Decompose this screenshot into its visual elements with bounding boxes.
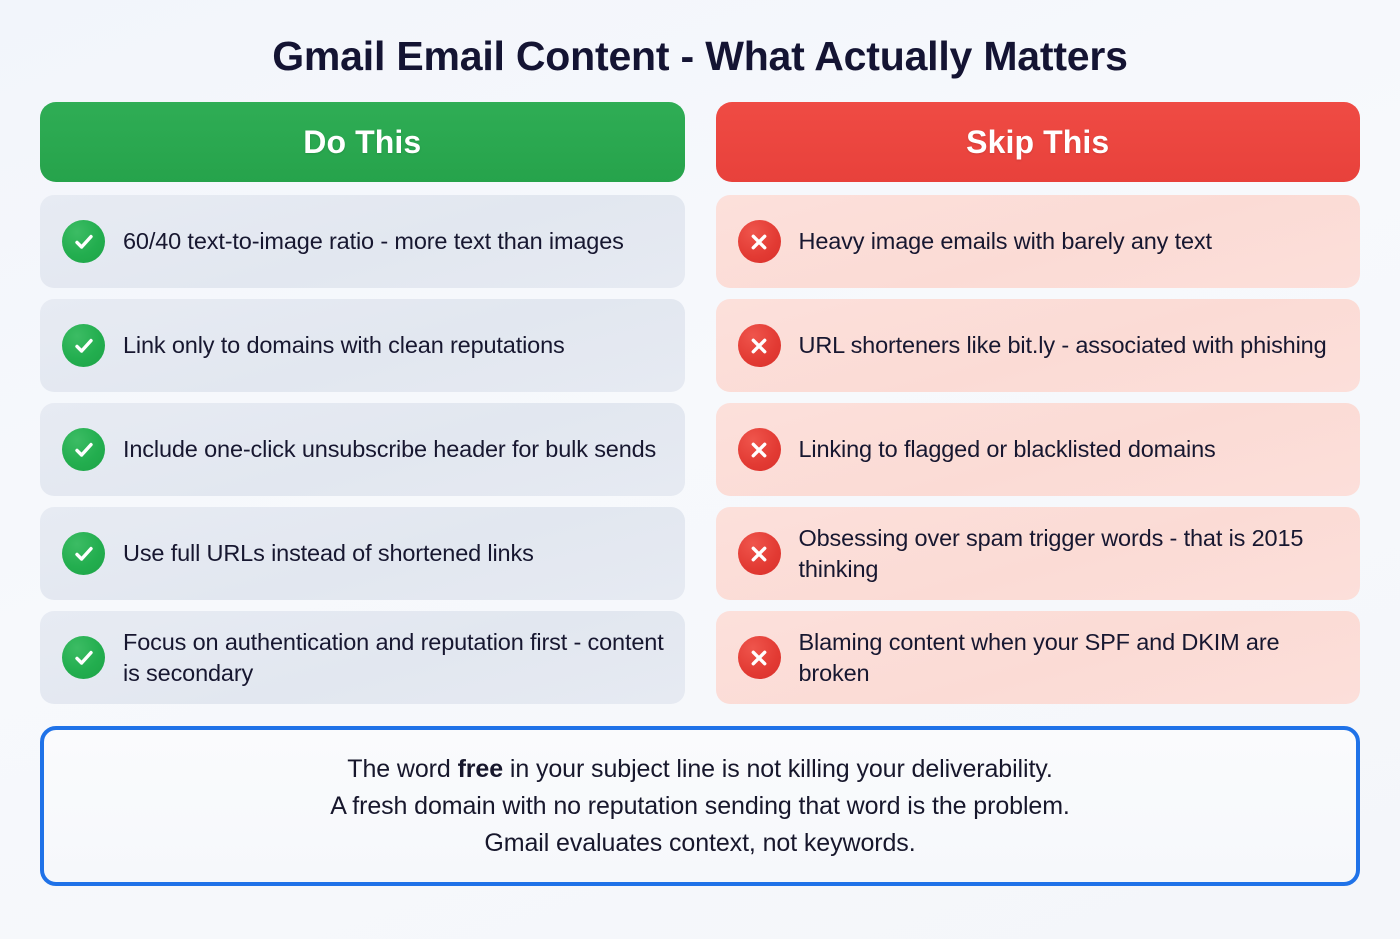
check-circle-icon: [62, 220, 105, 263]
x-circle-icon: [738, 532, 781, 575]
comparison-columns: Do This 60/40 text-to-image ratio - more…: [40, 102, 1360, 704]
list-item-label: Blaming content when your SPF and DKIM a…: [799, 627, 1341, 690]
check-circle-icon: [62, 428, 105, 471]
skip-this-list: Heavy image emails with barely any text …: [716, 195, 1361, 704]
list-item-label: Use full URLs instead of shortened links: [123, 538, 534, 569]
do-this-list: 60/40 text-to-image ratio - more text th…: [40, 195, 685, 704]
list-item[interactable]: Heavy image emails with barely any text: [716, 195, 1361, 288]
list-item[interactable]: Focus on authentication and reputation f…: [40, 611, 685, 704]
list-item-label: Focus on authentication and reputation f…: [123, 627, 665, 690]
list-item[interactable]: Linking to flagged or blacklisted domain…: [716, 403, 1361, 496]
x-circle-icon: [738, 324, 781, 367]
list-item-label: 60/40 text-to-image ratio - more text th…: [123, 226, 624, 257]
key-takeaway-callout: The word free in your subject line is no…: [40, 726, 1360, 886]
do-this-column: Do This 60/40 text-to-image ratio - more…: [40, 102, 685, 704]
callout-line3: Gmail evaluates context, not keywords.: [484, 829, 915, 857]
list-item[interactable]: Blaming content when your SPF and DKIM a…: [716, 611, 1361, 704]
list-item-label: Linking to flagged or blacklisted domain…: [799, 434, 1216, 465]
callout-emphasis-word: free: [458, 755, 503, 783]
x-circle-icon: [738, 220, 781, 263]
page-title: Gmail Email Content - What Actually Matt…: [40, 0, 1360, 90]
list-item-label: Obsessing over spam trigger words - that…: [799, 523, 1341, 586]
list-item-label: Link only to domains with clean reputati…: [123, 330, 565, 361]
check-circle-icon: [62, 636, 105, 679]
list-item-label: URL shorteners like bit.ly - associated …: [799, 330, 1327, 361]
check-circle-icon: [62, 532, 105, 575]
list-item[interactable]: Obsessing over spam trigger words - that…: [716, 507, 1361, 600]
list-item[interactable]: Use full URLs instead of shortened links: [40, 507, 685, 600]
list-item[interactable]: Include one-click unsubscribe header for…: [40, 403, 685, 496]
callout-line2: A fresh domain with no reputation sendin…: [330, 792, 1070, 820]
check-circle-icon: [62, 324, 105, 367]
skip-this-header: Skip This: [716, 102, 1361, 182]
callout-line1-before: The word: [347, 755, 457, 783]
list-item-label: Include one-click unsubscribe header for…: [123, 434, 656, 465]
callout-text: The word free in your subject line is no…: [306, 751, 1094, 861]
do-this-header: Do This: [40, 102, 685, 182]
x-circle-icon: [738, 428, 781, 471]
skip-this-column: Skip This Heavy image emails with barely…: [716, 102, 1361, 704]
list-item[interactable]: 60/40 text-to-image ratio - more text th…: [40, 195, 685, 288]
list-item[interactable]: URL shorteners like bit.ly - associated …: [716, 299, 1361, 392]
infographic-page: Gmail Email Content - What Actually Matt…: [0, 0, 1400, 939]
callout-line1-after: in your subject line is not killing your…: [503, 755, 1053, 783]
x-circle-icon: [738, 636, 781, 679]
list-item[interactable]: Link only to domains with clean reputati…: [40, 299, 685, 392]
list-item-label: Heavy image emails with barely any text: [799, 226, 1212, 257]
